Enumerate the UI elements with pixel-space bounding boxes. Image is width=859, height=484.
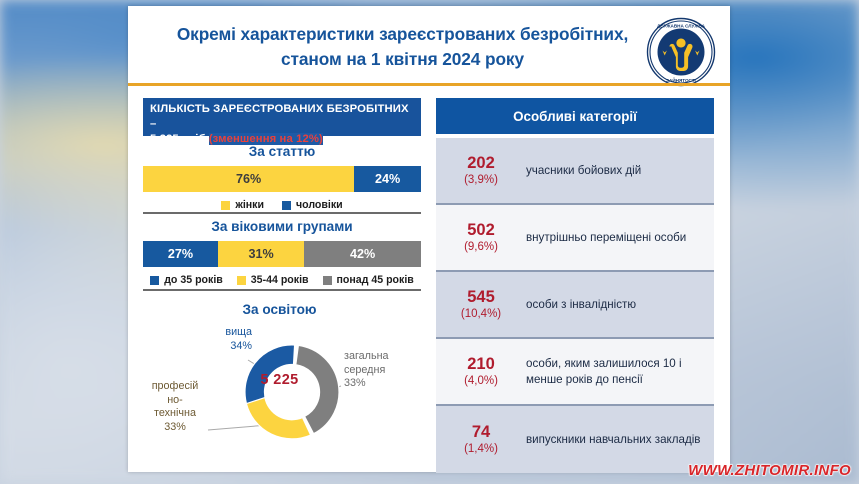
row-label: особи з інвалідністю — [520, 297, 708, 313]
donut-hole — [265, 365, 319, 419]
swatch-gray-icon — [323, 276, 332, 285]
education-block: За освітою 5 225 — [128, 302, 431, 472]
swatch-yellow-icon — [237, 276, 246, 285]
table-row: 202 (3,9%) учасники бойових дій — [436, 138, 714, 205]
row-value: 74 — [442, 423, 520, 442]
row-figures: 202 (3,9%) — [442, 154, 520, 188]
registered-count-banner: КІЛЬКІСТЬ ЗАРЕЄСТРОВАНИХ БЕЗРОБІТНИХ – 5… — [143, 98, 421, 136]
gender-segment-women: 76% — [143, 166, 354, 192]
card-header: Окремі характеристики зареєстрованих без… — [128, 6, 730, 84]
special-categories-title: Особливі категорії — [436, 98, 714, 134]
table-row: 210 (4,0%) особи, яким залишилося 10 і м… — [436, 339, 714, 406]
age-segment-35-44: 31% — [218, 241, 304, 267]
age-segment-over45: 42% — [304, 241, 421, 267]
left-column: КІЛЬКІСТЬ ЗАРЕЄСТРОВАНИХ БЕЗРОБІТНИХ – 5… — [128, 90, 431, 472]
state-employment-service-logo-icon: ДЕРЖАВНА СЛУЖБА ЗАЙНЯТОСТІ — [646, 17, 716, 87]
education-label-higher-name: вища — [190, 326, 252, 340]
row-figures: 545 (10,4%) — [442, 288, 520, 322]
donut-rings — [245, 345, 339, 439]
education-label-vocational-line3: технічна — [138, 407, 212, 421]
row-percent: (9,6%) — [442, 240, 520, 255]
legend-label-over45: понад 45 років — [337, 274, 414, 286]
education-label-general-line1: загальна — [344, 350, 420, 364]
legend-label-under35: до 35 років — [164, 274, 223, 286]
age-bar-chart: 27% 31% 42% — [143, 241, 421, 267]
row-value: 545 — [442, 288, 520, 307]
logo-top-text: ДЕРЖАВНА СЛУЖБА — [657, 23, 706, 28]
education-title: За освітою — [128, 302, 431, 317]
infographic-card: Окремі характеристики зареєстрованих без… — [128, 6, 730, 472]
age-legend: до 35 років 35-44 років понад 45 років — [143, 274, 421, 286]
legend-label-men: чоловіки — [296, 199, 343, 211]
education-label-vocational-line2: но- — [138, 394, 212, 408]
row-label: внутрішньо переміщені особи — [520, 230, 708, 246]
education-label-higher: вища 34% — [190, 326, 252, 353]
gender-segment-men: 24% — [354, 166, 421, 192]
table-row: 545 (10,4%) особи з інвалідністю — [436, 272, 714, 339]
divider-age-education — [143, 289, 421, 291]
legend-label-35-44: 35-44 років — [251, 274, 309, 286]
row-percent: (10,4%) — [442, 307, 520, 322]
education-label-vocational: професій но- технічна 33% — [138, 380, 212, 434]
table-row: 502 (9,6%) внутрішньо переміщені особи — [436, 205, 714, 272]
row-value: 202 — [442, 154, 520, 173]
age-segment-under35: 27% — [143, 241, 218, 267]
right-column: Особливі категорії 202 (3,9%) учасники б… — [436, 90, 730, 472]
education-label-general-pct: 33% — [344, 377, 420, 391]
gender-bar-chart: 76% 24% — [143, 166, 421, 192]
legend-item-women: жінки — [221, 199, 264, 211]
header-gold-rule — [128, 83, 730, 86]
education-label-general-line2: середня — [344, 364, 420, 378]
education-label-higher-pct: 34% — [190, 340, 252, 354]
age-title: За віковими групами — [143, 219, 421, 234]
row-value: 210 — [442, 355, 520, 374]
registered-count-caption: КІЛЬКІСТЬ ЗАРЕЄСТРОВАНИХ БЕЗРОБІТНИХ – — [150, 103, 409, 130]
legend-item-under35: до 35 років — [150, 274, 223, 286]
education-label-vocational-pct: 33% — [138, 421, 212, 435]
age-block: За віковими групами 27% 31% 42% до 35 ро… — [143, 219, 421, 286]
education-label-vocational-line1: професій — [138, 380, 212, 394]
row-figures: 210 (4,0%) — [442, 355, 520, 389]
table-row: 74 (1,4%) випускники навчальних закладів — [436, 406, 714, 473]
legend-item-35-44: 35-44 років — [237, 274, 309, 286]
row-figures: 74 (1,4%) — [442, 423, 520, 457]
swatch-blue-icon — [282, 201, 291, 210]
row-value: 502 — [442, 221, 520, 240]
gender-legend: жінки чоловіки — [143, 199, 421, 211]
row-percent: (4,0%) — [442, 374, 520, 389]
legend-label-women: жінки — [235, 199, 264, 211]
special-categories-list: 202 (3,9%) учасники бойових дій 502 (9,6… — [436, 138, 714, 473]
legend-item-over45: понад 45 років — [323, 274, 414, 286]
gender-block: За статтю 76% 24% жінки чоловіки — [143, 144, 421, 211]
row-label: учасники бойових дій — [520, 163, 708, 179]
education-label-general: загальна середня 33% — [344, 350, 420, 391]
divider-gender-age — [143, 212, 421, 214]
swatch-blue-icon — [150, 276, 159, 285]
page-title: Окремі характеристики зареєстрованих без… — [150, 22, 655, 72]
swatch-yellow-icon — [221, 201, 230, 210]
site-watermark: WWW.ZHITOMIR.INFO — [688, 462, 851, 479]
row-label: особи, яким залишилося 10 і менше років … — [520, 356, 708, 388]
gender-title: За статтю — [143, 144, 421, 159]
row-label: випускники навчальних закладів — [520, 432, 708, 448]
page-title-line2: станом на 1 квітня 2024 року — [150, 47, 655, 72]
row-percent: (3,9%) — [442, 173, 520, 188]
page-title-line1: Окремі характеристики зареєстрованих без… — [150, 22, 655, 47]
row-figures: 502 (9,6%) — [442, 221, 520, 255]
legend-item-men: чоловіки — [282, 199, 343, 211]
row-percent: (1,4%) — [442, 442, 520, 457]
